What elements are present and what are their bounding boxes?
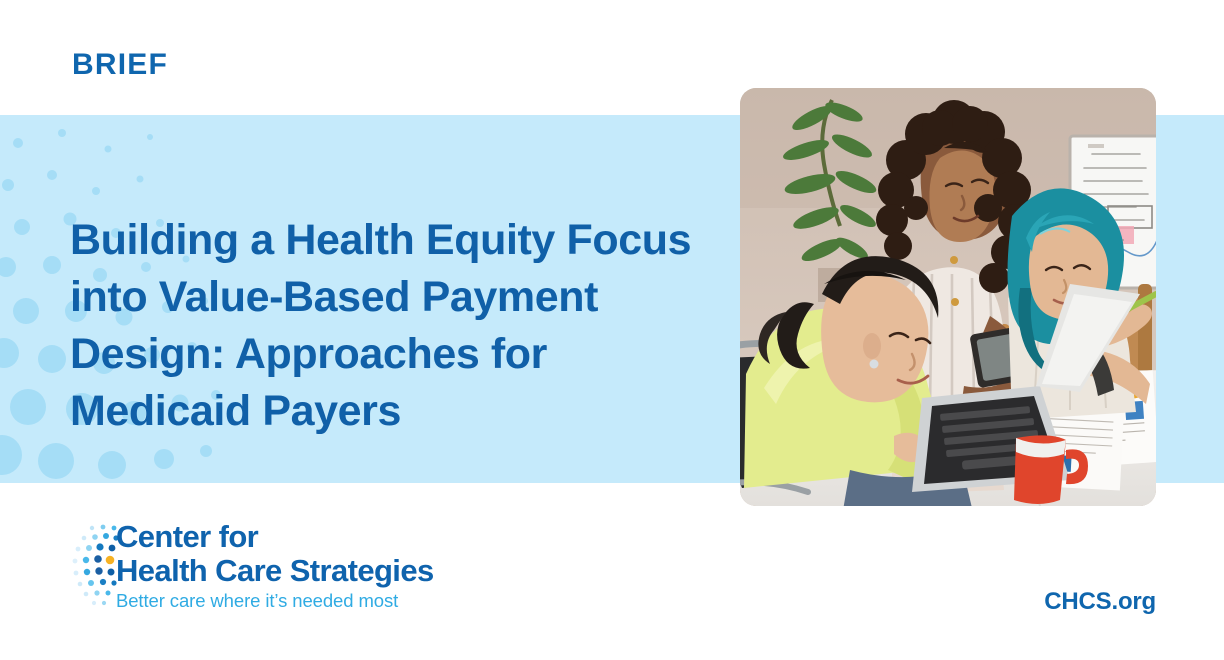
brief-cover-page: BRIEF Building a Health Equity Focus int… — [0, 0, 1224, 660]
organization-logo-text: Center for Health Care Strategies Better… — [116, 520, 516, 613]
organization-name-line1: Center for — [116, 520, 516, 553]
chcs-dot-swirl-logomark — [70, 523, 122, 613]
organization-name-line2: Health Care Strategies — [116, 553, 516, 588]
cover-photo — [740, 88, 1156, 506]
page-title: Building a Health Equity Focus into Valu… — [70, 212, 730, 440]
organization-tagline: Better care where it’s needed most — [116, 589, 516, 613]
organization-logo[interactable]: Center for Health Care Strategies Better… — [70, 520, 500, 620]
website-url[interactable]: CHCS.org — [1044, 588, 1156, 616]
document-type-label: BRIEF — [72, 48, 168, 82]
